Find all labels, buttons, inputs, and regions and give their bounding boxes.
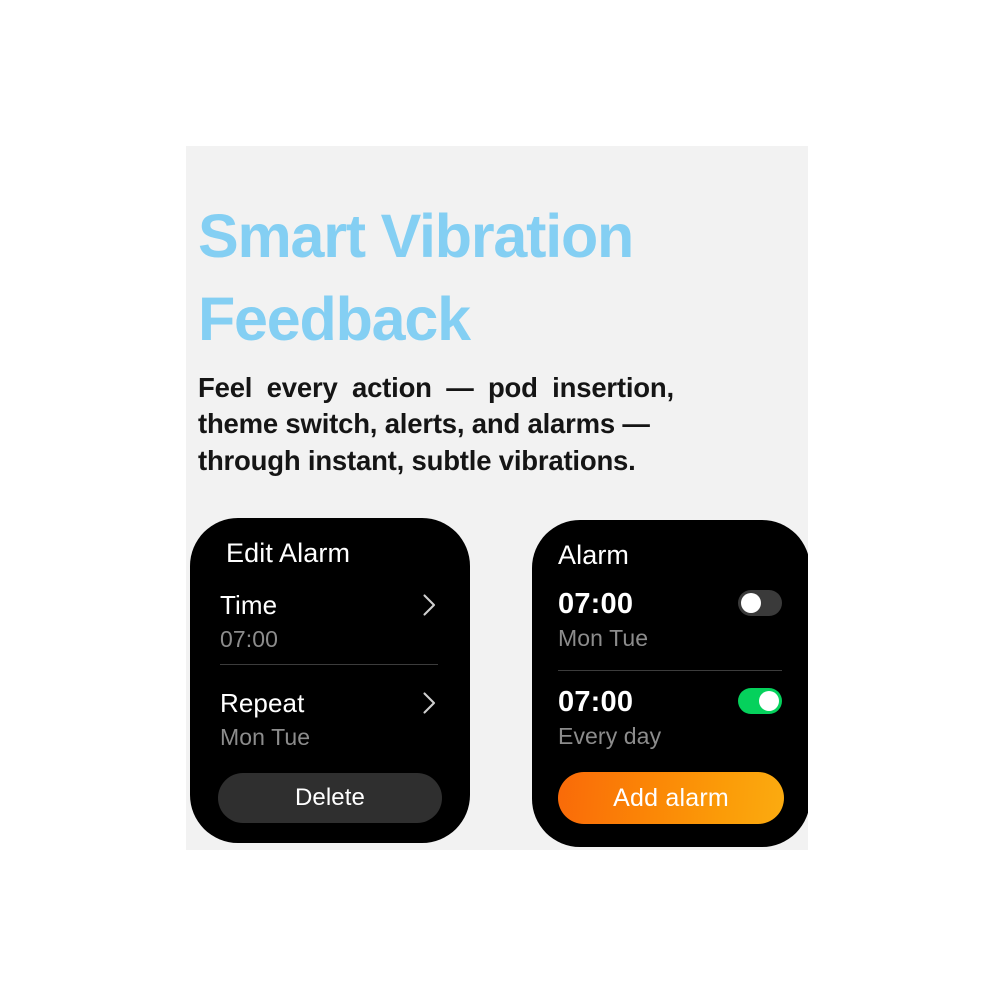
watch-screen-edit-alarm: Edit Alarm Time 07:00 Repeat Mon Tue bbox=[190, 518, 470, 843]
add-alarm-button[interactable]: Add alarm bbox=[558, 772, 784, 824]
screenshot-canvas: Smart Vibration Feedback Feel every acti… bbox=[0, 0, 1000, 1000]
subhead-paragraph: Feel every action — pod insertion, theme… bbox=[198, 370, 778, 480]
alarm-toggle-off[interactable] bbox=[738, 590, 782, 616]
row-repeat[interactable]: Repeat Mon Tue bbox=[220, 688, 436, 751]
alarm-days: Mon Tue bbox=[558, 625, 782, 652]
watch-screen-alarm-list: Alarm 07:00 Mon Tue 07:00 Every day Add … bbox=[532, 520, 808, 847]
alarm-days: Every day bbox=[558, 723, 782, 750]
delete-button[interactable]: Delete bbox=[218, 773, 442, 823]
row-divider bbox=[220, 664, 438, 665]
row-time-value: 07:00 bbox=[220, 626, 436, 653]
alarm-list-item[interactable]: 07:00 Every day bbox=[558, 686, 782, 750]
subhead-line-1: Feel every action — pod insertion, bbox=[198, 370, 778, 407]
alarm-toggle-on[interactable] bbox=[738, 688, 782, 714]
edit-alarm-title: Edit Alarm bbox=[226, 538, 350, 569]
row-repeat-value: Mon Tue bbox=[220, 724, 436, 751]
row-time[interactable]: Time 07:00 bbox=[220, 590, 436, 653]
page-title: Smart Vibration Feedback bbox=[198, 195, 798, 361]
alarm-list-item[interactable]: 07:00 Mon Tue bbox=[558, 588, 782, 652]
alarm-row-divider bbox=[558, 670, 782, 671]
toggle-knob-icon bbox=[759, 691, 779, 711]
chevron-right-icon bbox=[423, 594, 436, 616]
alarm-list-title: Alarm bbox=[558, 540, 629, 571]
toggle-knob-icon bbox=[741, 593, 761, 613]
promo-panel: Smart Vibration Feedback Feel every acti… bbox=[186, 146, 808, 850]
subhead-line-2: theme switch, alerts, and alarms — bbox=[198, 406, 778, 443]
row-repeat-label: Repeat bbox=[220, 688, 436, 719]
row-time-label: Time bbox=[220, 590, 436, 621]
subhead-line-3: through instant, subtle vibrations. bbox=[198, 443, 778, 480]
chevron-right-icon bbox=[423, 692, 436, 714]
